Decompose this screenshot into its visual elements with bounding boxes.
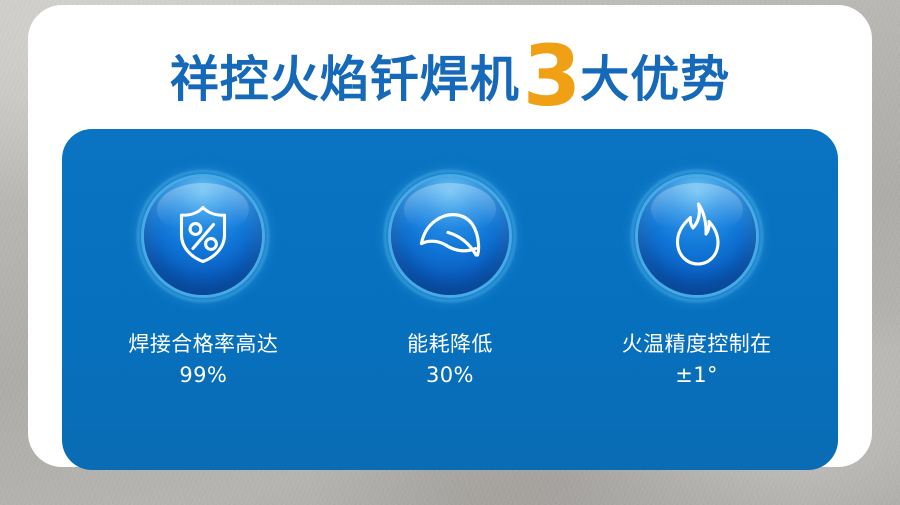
- feature-icon-badge: [391, 177, 509, 295]
- feature-caption-line-2: 99%: [128, 360, 278, 391]
- feature-caption-line-2: 30%: [407, 360, 493, 391]
- feature-caption: 火温精度控制在 ±1°: [622, 329, 772, 391]
- content-card: 祥控火焰钎焊机3大优势 焊接合格率高达: [28, 5, 872, 467]
- features-panel: 焊接合格率高达 99% 能耗降低 30: [62, 129, 838, 470]
- title-text-before: 祥控火焰钎焊机: [170, 51, 520, 108]
- feature-icon-badge: [638, 177, 756, 295]
- feature-caption-line-2: ±1°: [622, 360, 772, 391]
- feature-icon-badge: [144, 177, 262, 295]
- feature-caption-line-1: 能耗降低: [407, 332, 493, 356]
- page-title: 祥控火焰钎焊机3大优势: [28, 25, 872, 109]
- flame-icon: [665, 200, 729, 273]
- shield-percent-icon: [170, 201, 236, 272]
- feature-item: 焊接合格率高达 99%: [87, 177, 319, 391]
- title-number: 3: [523, 27, 579, 125]
- feature-item: 火温精度控制在 ±1°: [581, 177, 813, 391]
- features-list: 焊接合格率高达 99% 能耗降低 30: [62, 129, 838, 470]
- title-text-after: 大优势: [580, 51, 730, 108]
- feature-item: 能耗降低 30%: [334, 177, 566, 391]
- feature-caption: 焊接合格率高达 99%: [128, 329, 278, 391]
- feature-caption-line-1: 火温精度控制在: [622, 332, 772, 356]
- feature-caption: 能耗降低 30%: [407, 329, 493, 391]
- feature-caption-line-1: 焊接合格率高达: [128, 332, 278, 356]
- leaf-icon: [415, 199, 485, 274]
